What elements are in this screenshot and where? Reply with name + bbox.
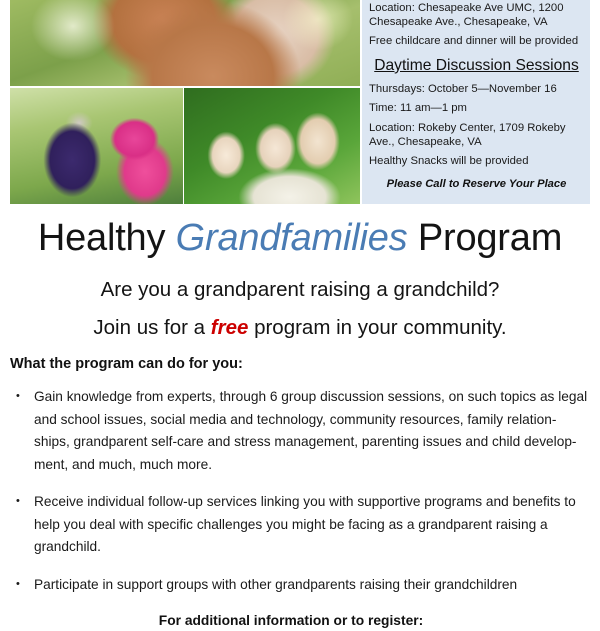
daytime-sessions-heading: Daytime Discussion Sessions (369, 56, 584, 75)
body-heading: What the program can do for you: (10, 355, 590, 373)
subhead-join-emphasis: free (211, 316, 249, 339)
flyer-header-band: Location: Chesapeake Ave UMC, 1200 Chesa… (0, 0, 600, 204)
list-item: Gain knowledge from experts, through 6 g… (10, 386, 590, 476)
daytime-note-text: Healthy Snacks will be provided (369, 155, 584, 169)
subhead-join: Join us for a free program in your commu… (0, 315, 600, 341)
reserve-place-callout: Please Call to Reserve Your Place (369, 178, 584, 190)
program-benefits-list: Gain knowledge from experts, through 6 g… (10, 386, 590, 596)
daytime-time-text: Time: 11 am—1 pm (369, 102, 584, 116)
title-part-1: Healthy (38, 217, 176, 259)
list-item: Participate in support groups with other… (10, 574, 590, 597)
collage-horizontal-divider (10, 86, 360, 88)
session-info-panel: Location: Chesapeake Ave UMC, 1200 Chesa… (362, 0, 590, 204)
evening-location-text: Location: Chesapeake Ave UMC, 1200 Chesa… (369, 2, 584, 29)
evening-note-text: Free childcare and dinner will be provid… (369, 35, 584, 49)
page-title: Healthy Grandfamilies Program (0, 216, 600, 260)
program-body: What the program can do for you: Gain kn… (10, 355, 590, 631)
photo-collage (10, 0, 360, 204)
subhead-join-after: program in your community. (248, 316, 506, 339)
daytime-location-text: Location: Rokeby Center, 1709 Rokeby Ave… (369, 122, 584, 149)
daytime-days-text: Thursdays: October 5—November 16 (369, 83, 584, 97)
grandfather-hugging-grandchild-photo (10, 0, 360, 87)
footer-call-to-action: For additional information or to registe… (10, 611, 590, 631)
title-brand: Grandfamilies (176, 217, 408, 259)
title-part-2: Program (407, 217, 562, 259)
list-item: Receive individual follow-up services li… (10, 491, 590, 559)
grandmother-hugging-granddaughter-photo (10, 88, 183, 204)
collage-vertical-divider (183, 88, 184, 204)
subhead-join-before: Join us for a (93, 316, 210, 339)
subhead-question: Are you a grandparent raising a grandchi… (0, 277, 600, 303)
three-young-girls-photo (184, 88, 360, 204)
